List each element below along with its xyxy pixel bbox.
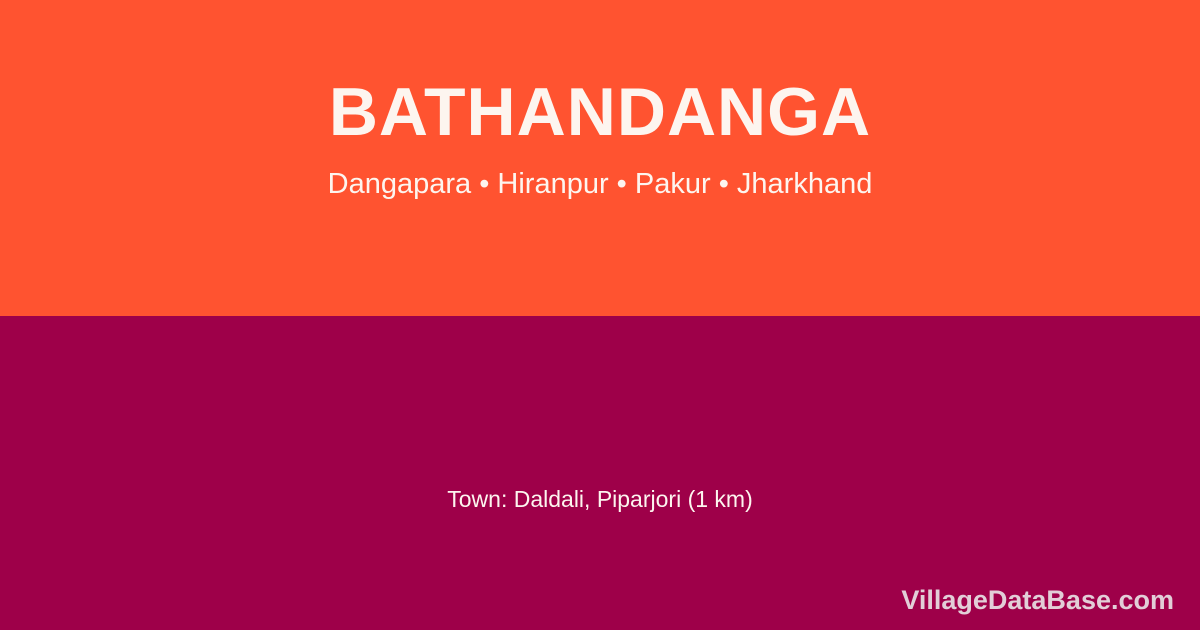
breadcrumb: Dangapara • Hiranpur • Pakur • Jharkhand bbox=[328, 168, 873, 201]
site-watermark: VillageDataBase.com bbox=[901, 585, 1174, 616]
page-title: BATHANDANGA bbox=[329, 78, 871, 146]
village-info-card: BATHANDANGA Dangapara • Hiranpur • Pakur… bbox=[0, 0, 1200, 630]
header-band: BATHANDANGA Dangapara • Hiranpur • Pakur… bbox=[0, 0, 1200, 316]
details-band: Town: Daldali, Piparjori (1 km) bbox=[0, 316, 1200, 630]
nearest-town-label: Town: Daldali, Piparjori (1 km) bbox=[0, 486, 1200, 513]
